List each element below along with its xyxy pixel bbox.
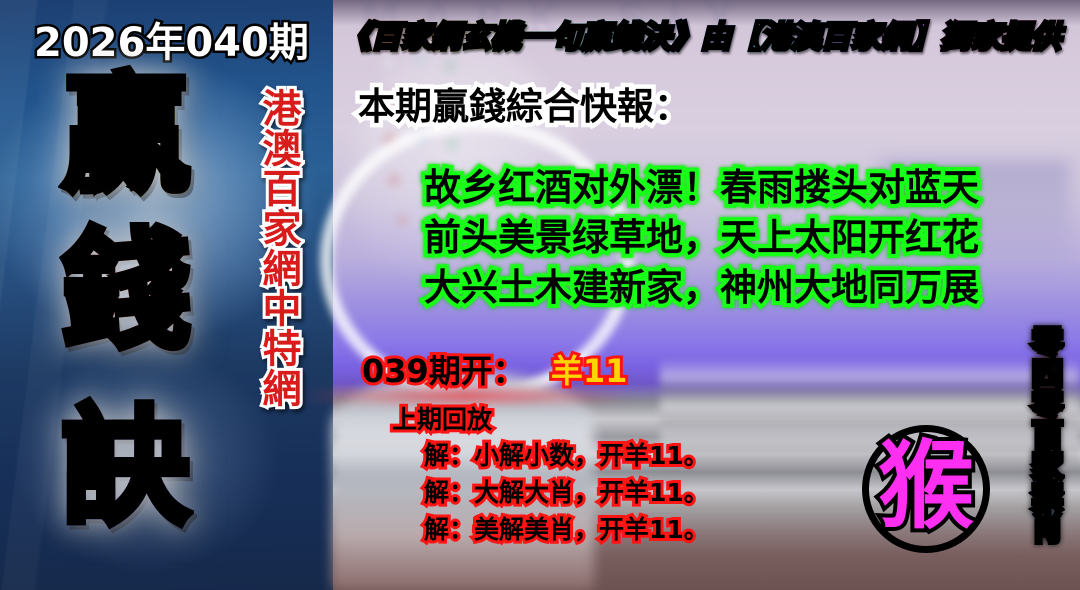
verse-line-2: 前头美景绿草地，天上太阳开红花 <box>424 207 979 261</box>
zodiac-char: 猴 <box>878 438 974 534</box>
replay-line-1: 解：小解小数，开羊11。 <box>424 436 709 472</box>
vertical-forbidden-zodiac-tag: 零四零百家禁肖 <box>1000 326 1062 543</box>
verse-line-1: 故乡红酒对外漂！春雨搂头对蓝天 <box>424 157 979 211</box>
previous-draw-prefix: 039期开： <box>362 352 525 390</box>
previous-draw-line: 039期开：羊11 <box>362 346 627 392</box>
vertical-brand-text: 港澳百家網中特網 <box>238 88 298 408</box>
replay-title: 上期回放 <box>392 400 492 436</box>
headline-text: 本期贏錢綜合快報： <box>358 76 691 130</box>
zodiac-medallion: 猴 <box>862 425 990 553</box>
poster-canvas: MARK SIX 2026年040期 贏 錢 訣 港澳百家網中特網 《百家綱玄機… <box>0 0 1080 590</box>
verse-line-3: 大兴土木建新家，神州大地同万展 <box>424 257 979 311</box>
issue-label: 2026年040期 <box>34 10 309 68</box>
replay-line-3: 解：美解美肖，开羊11。 <box>424 510 709 546</box>
big-char-qian: 錢 <box>62 228 190 356</box>
previous-draw-result: 羊11 <box>551 352 628 390</box>
big-char-jue: 訣 <box>62 404 190 532</box>
replay-line-2: 解：大解大肖，开羊11。 <box>424 473 709 509</box>
top-banner-text: 《百家綱玄機一句贏錢決》由【港澳百家綱】獨家提供 <box>341 12 1061 56</box>
big-char-ying: 贏 <box>62 72 190 200</box>
